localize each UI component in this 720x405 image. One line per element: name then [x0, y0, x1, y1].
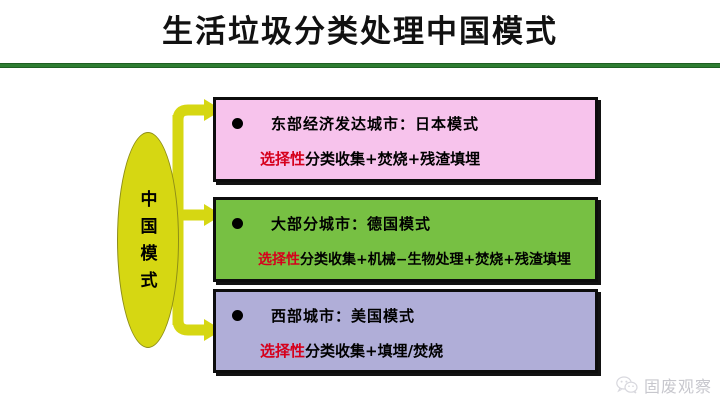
- model-box-most: 大部分城市：德国模式 选择性分类收集+机械−生物处理+焚烧+残渣填埋: [213, 197, 598, 282]
- source-node-ellipse: 中 国 模 式: [117, 132, 179, 348]
- bullet-icon: [232, 310, 243, 321]
- source-node-char-2: 国: [141, 214, 158, 241]
- box-east-detail-rest: 分类收集+焚烧+残渣填埋: [305, 150, 480, 168]
- box-most-heading-row: 大部分城市：德国模式: [232, 213, 431, 234]
- box-most-detail: 选择性分类收集+机械−生物处理+焚烧+残渣填埋: [258, 249, 571, 269]
- box-east-heading-row: 东部经济发达城市：日本模式: [232, 113, 479, 134]
- watermark: 固废观察: [616, 373, 712, 397]
- wechat-icon: [616, 376, 638, 394]
- box-most-detail-rest: 分类收集+机械−生物处理+焚烧+残渣填埋: [300, 252, 571, 268]
- box-west-detail-highlight: 选择性: [260, 342, 305, 360]
- box-west-heading: 西部城市：美国模式: [271, 305, 415, 326]
- source-node-char-1: 中: [141, 187, 158, 214]
- box-west-heading-row: 西部城市：美国模式: [232, 305, 415, 326]
- box-most-heading: 大部分城市：德国模式: [271, 213, 431, 234]
- source-node-label: 中 国 模 式: [118, 133, 180, 349]
- box-most-detail-highlight: 选择性: [258, 252, 300, 268]
- watermark-text: 固废观察: [644, 373, 712, 397]
- source-node-char-3: 模: [141, 241, 158, 268]
- page-title: 生活垃圾分类处理中国模式: [0, 12, 720, 52]
- title-divider: [0, 63, 720, 68]
- box-west-detail-rest: 分类收集+填埋/焚烧: [305, 342, 443, 360]
- box-east-detail-highlight: 选择性: [260, 150, 305, 168]
- box-west-detail: 选择性分类收集+填埋/焚烧: [260, 340, 443, 361]
- source-node-char-4: 式: [141, 268, 158, 295]
- model-box-west: 西部城市：美国模式 选择性分类收集+填埋/焚烧: [213, 289, 598, 373]
- bullet-icon: [232, 118, 243, 129]
- box-east-detail: 选择性分类收集+焚烧+残渣填埋: [260, 148, 480, 169]
- box-east-heading: 东部经济发达城市：日本模式: [271, 113, 479, 134]
- bullet-icon: [232, 218, 243, 229]
- model-box-east: 东部经济发达城市：日本模式 选择性分类收集+焚烧+残渣填埋: [213, 97, 598, 182]
- slide-canvas: 生活垃圾分类处理中国模式 中 国 模 式 东部经济发达城市：日本模式: [0, 0, 720, 405]
